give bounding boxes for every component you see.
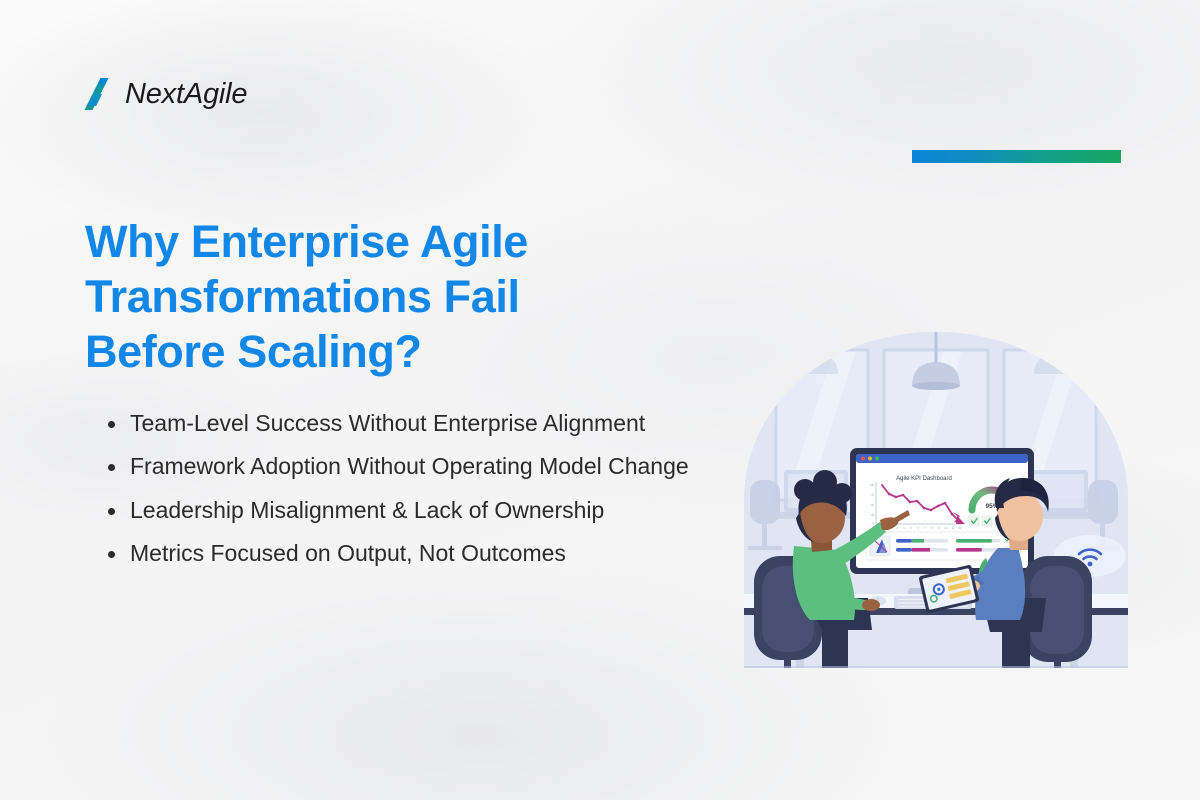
list-item: Metrics Focused on Output, Not Outcomes (100, 538, 720, 569)
list-item: Framework Adoption Without Operating Mod… (100, 451, 720, 482)
poster-canvas: NextAgile Why Enterprise Agile Transform… (0, 0, 1200, 800)
headline-line-1: Why Enterprise Agile (85, 215, 705, 270)
brand-logo[interactable]: NextAgile (80, 76, 247, 112)
window-maximize-dot (875, 457, 879, 461)
accent-bar (912, 150, 1121, 163)
nextagile-a-mark-icon (80, 76, 116, 112)
office-scene-svg: Agile KPI Dashboard 100 75 50 25 0 (726, 330, 1146, 690)
page-title: Why Enterprise Agile Transformations Fai… (85, 215, 705, 380)
list-item: Leadership Misalignment & Lack of Owners… (100, 495, 720, 526)
office-illustration: Agile KPI Dashboard 100 75 50 25 0 (726, 330, 1146, 690)
headline-line-3: Before Scaling? (85, 325, 705, 380)
brand-name: NextAgile (125, 78, 247, 111)
pendant-lamp-icon (1034, 332, 1066, 374)
list-item: Team-Level Success Without Enterprise Al… (100, 408, 720, 439)
window-minimize-dot (868, 457, 872, 461)
pendant-lamp-icon (806, 332, 838, 374)
headline-line-2: Transformations Fail (85, 270, 705, 325)
window-titlebar (856, 454, 1028, 463)
key-points-list: Team-Level Success Without Enterprise Al… (100, 408, 720, 581)
chart-title: Agile KPI Dashboard (896, 476, 952, 482)
window-close-dot (861, 457, 865, 461)
svg-text:100: 100 (870, 483, 875, 487)
